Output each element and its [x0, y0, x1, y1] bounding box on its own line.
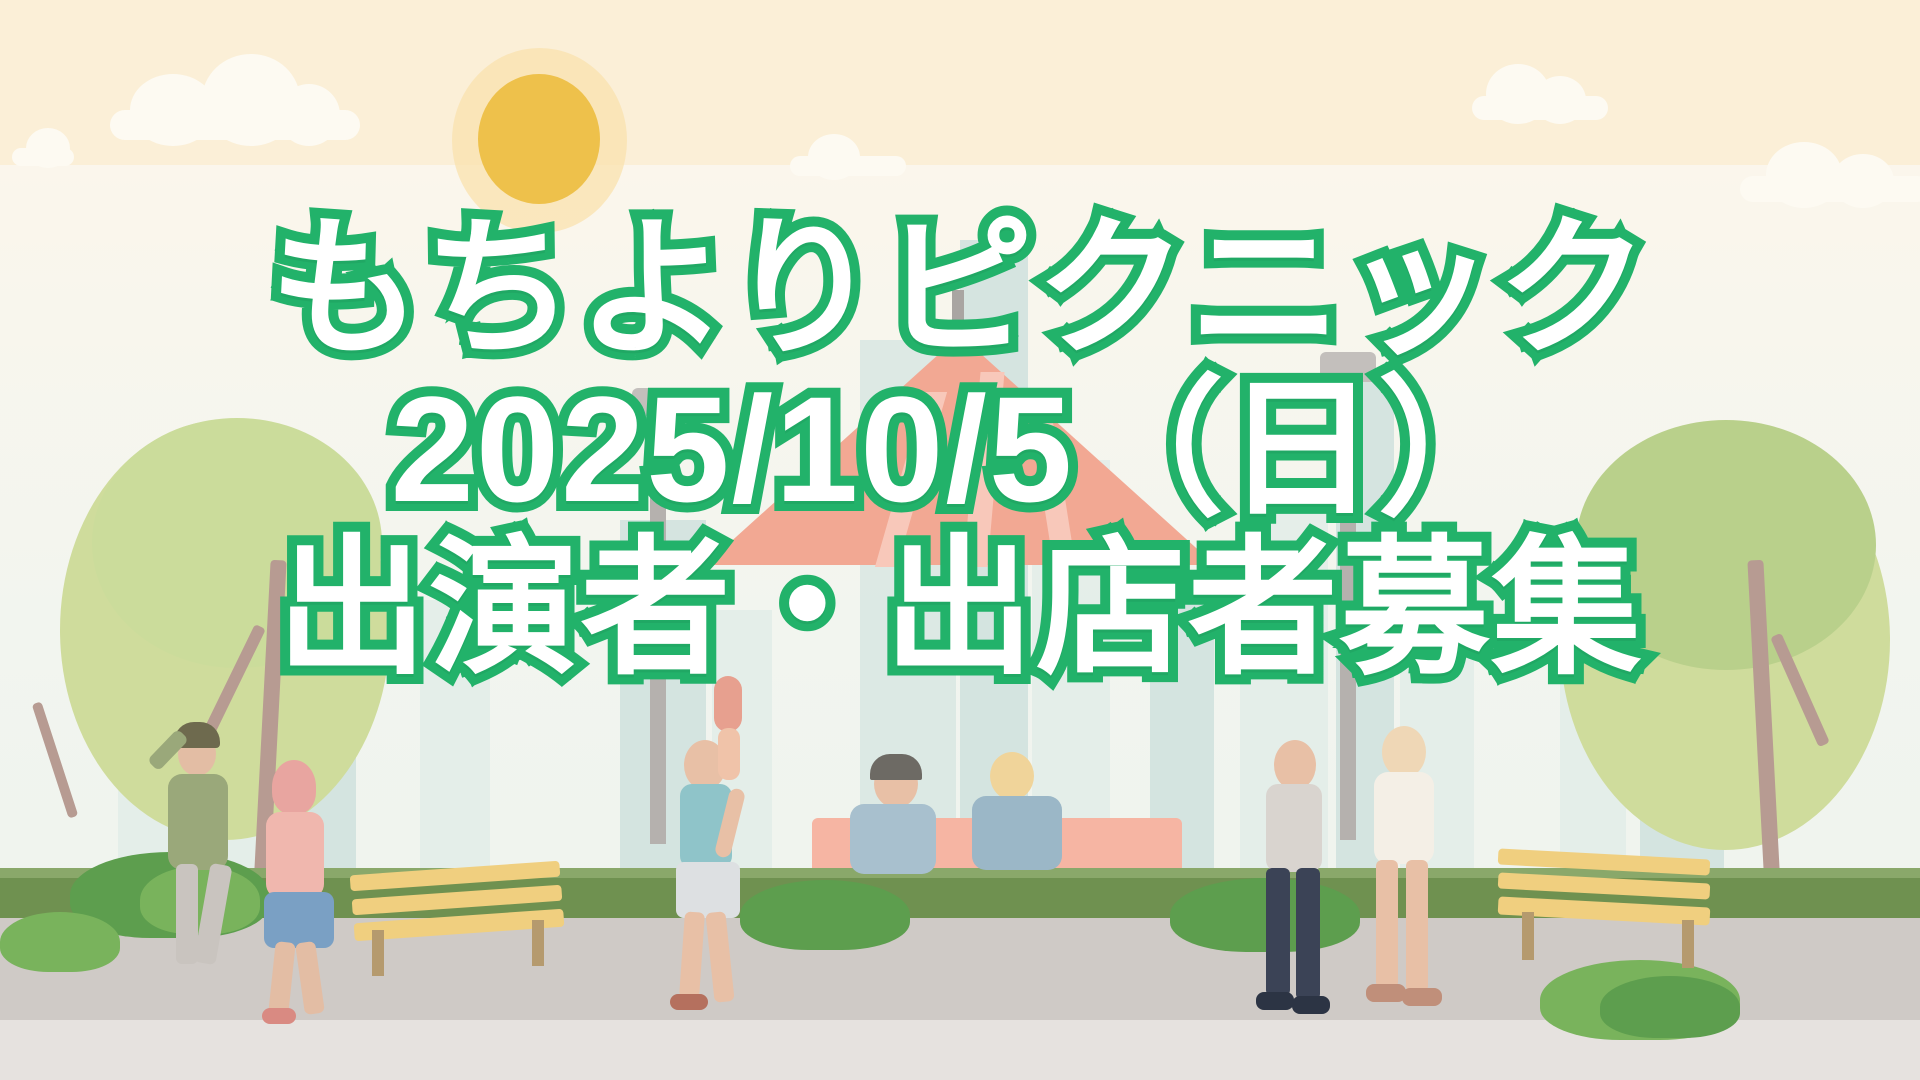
person-sitting-pink: [250, 760, 360, 990]
tent-center-pole: [952, 290, 964, 350]
lamp-head-right-icon: [1320, 352, 1376, 382]
person-walking-beige: [1352, 726, 1472, 1026]
person-picnic-left: [830, 760, 960, 890]
park-bench-left: [350, 862, 570, 972]
cloud-right-lower-icon: [1740, 176, 1920, 202]
cloud-mid-icon: [790, 156, 906, 176]
person-walking-dark-pants: [1248, 740, 1358, 1030]
sun-icon: [478, 74, 600, 204]
tree-canopy-right: [1576, 420, 1876, 670]
bush-right-2: [1600, 976, 1740, 1038]
person-with-popsicle: [700, 676, 770, 786]
bush-far-left: [0, 912, 120, 972]
cloud-large-left-icon: [110, 110, 360, 140]
park-bench-right: [1498, 848, 1718, 958]
tree-canopy-left: [92, 418, 382, 668]
cloud-small-left-icon: [12, 148, 74, 166]
event-banner: もちよりピクニック 2025/10/5（日） 出演者・出店者募集: [0, 0, 1920, 1080]
building-4: [420, 600, 490, 900]
cloud-right-upper-icon: [1472, 96, 1608, 120]
lamp-head-left-icon: [632, 388, 684, 416]
person-picnic-right: [960, 752, 1090, 892]
carnival-tent-roof-icon: [705, 335, 1215, 565]
park-scene-illustration: [0, 0, 1920, 1080]
